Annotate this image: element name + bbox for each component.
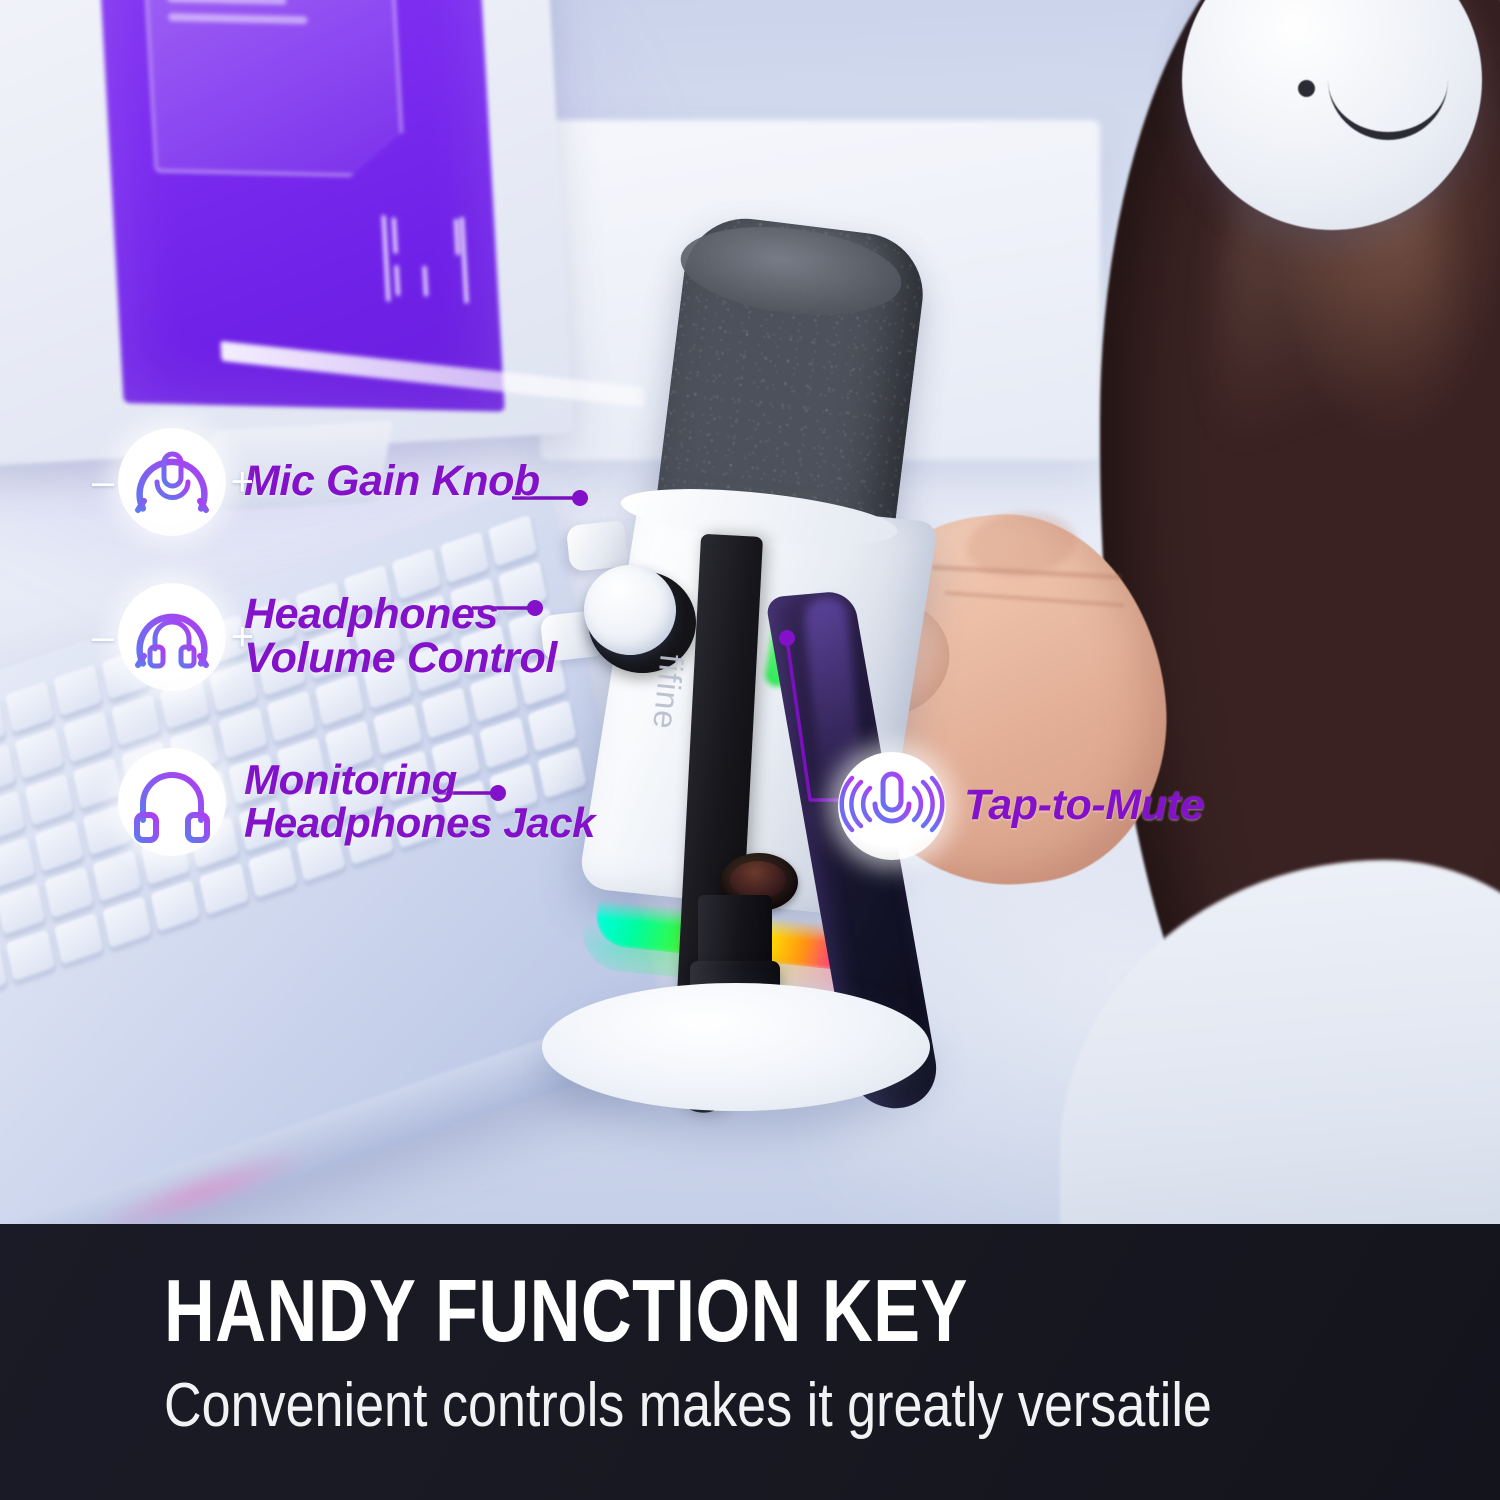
bottom-banner: HANDY FUNCTION KEY Convenient controls m… [0,1224,1500,1500]
stand-pivot-hole [730,861,786,899]
callout-headphones-volume-control[interactable]: – + Headphones Volume Control [118,583,557,691]
callout-tap-to-mute[interactable]: Tap-to-Mute [838,752,1204,860]
banner-title: HANDY FUNCTION KEY [164,1260,968,1362]
headset-jack-icon [118,748,226,856]
minus-sign: – [92,617,114,657]
callout-label: Mic Gain Knob [244,460,540,504]
plus-sign: + [231,462,254,502]
screen-text-lines [166,0,340,36]
banner-subtitle: Convenient controls makes it greatly ver… [164,1370,1212,1441]
headphones-volume-icon: – + [118,583,226,691]
plus-sign: + [231,617,254,657]
callout-label: Monitoring Headphones Jack [244,759,595,845]
callout-mic-gain-knob[interactable]: – + Mic Gain Knob [118,428,540,536]
headset-jack-glyph [118,748,226,856]
callout-label: Tap-to-Mute [964,784,1204,828]
callout-label: Headphones Volume Control [244,593,557,681]
mic-gain-knob-icon: – + [118,428,226,536]
smiley-eye [1298,80,1315,97]
monitor-screen [92,0,504,412]
mari-logo-icon [382,215,469,303]
mic-gain-knob[interactable] [566,520,628,572]
smiley-mouth [1328,70,1448,140]
callout-monitoring-headphones-jack[interactable]: Monitoring Headphones Jack [118,748,595,856]
stand-base [542,983,930,1111]
headphones-volume-glyph [118,583,226,691]
fifine-brand-logo: fifine [645,652,691,731]
infographic-root: fifine [0,0,1500,1500]
product-photo: fifine [0,0,1500,1224]
mic-gain-knob-glyph [118,428,226,536]
minus-sign: – [92,462,114,502]
microphone: fifine [480,205,1040,1145]
mic-sound-waves-glyph [838,752,946,860]
mic-sound-waves-icon [838,752,946,860]
